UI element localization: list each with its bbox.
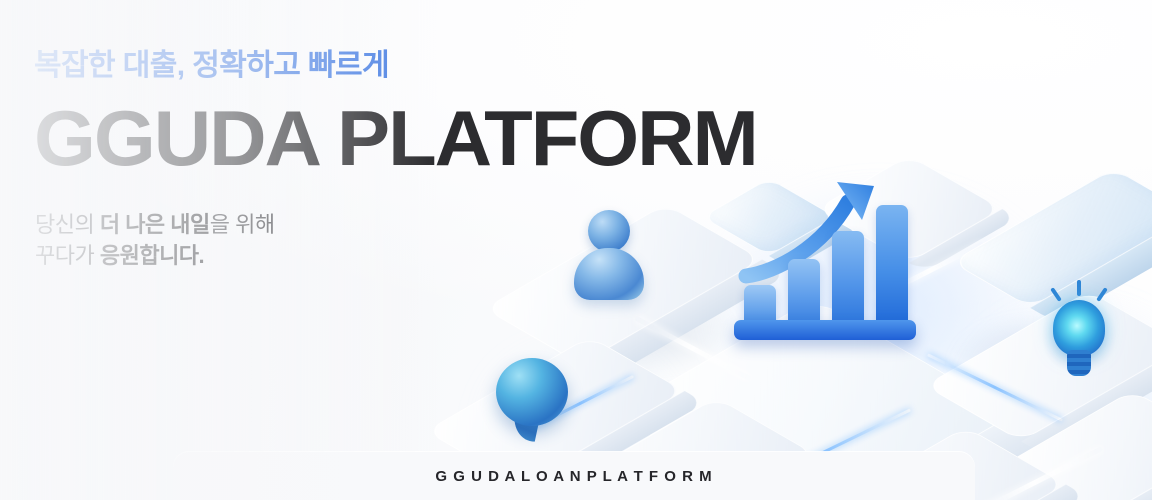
tagline-line2-bold: 응원합니다. (100, 243, 204, 268)
page-title: GGUDA PLATFORM (34, 99, 757, 177)
bar-chart-icon (730, 170, 930, 340)
bottom-label-text: G G U D A L O A N P L A T F O R M (435, 468, 712, 485)
person-icon (572, 210, 644, 300)
bubble-body (496, 358, 568, 426)
bulb-ray (1096, 287, 1108, 302)
person-head (588, 210, 630, 252)
speech-bubble-icon (496, 358, 568, 444)
hero-banner: 복잡한 대출, 정확하고 빠르게 GGUDA PLATFORM 당신의 더 나은… (0, 0, 1152, 500)
chart-bar (832, 231, 864, 327)
chart-bar (876, 205, 908, 327)
chart-base (734, 320, 916, 340)
bulb-ray (1050, 287, 1062, 302)
bulb-base (1067, 350, 1091, 376)
chart-bar (788, 259, 820, 327)
hero-eyebrow: 복잡한 대출, 정확하고 빠르게 (34, 40, 389, 84)
bulb-glass (1053, 300, 1105, 356)
hero-tagline: 당신의 더 나은 내일을 위해꾸다가 응원합니다. (35, 209, 275, 271)
tagline-line1-bold: 더 나은 내일 (100, 212, 210, 237)
bottom-label-bar: G G U D A L O A N P L A T F O R M (173, 452, 975, 500)
iso-stage (400, 150, 1152, 500)
tagline-line1-plain: 당신의 (35, 212, 100, 237)
lightbulb-icon (1042, 280, 1116, 388)
bulb-ray (1077, 280, 1081, 296)
tagline-line2-plain: 꾸다가 (35, 243, 100, 268)
person-body (574, 248, 644, 300)
isometric-illustration (400, 150, 1152, 500)
tagline-line1-tail: 을 위해 (210, 212, 275, 237)
